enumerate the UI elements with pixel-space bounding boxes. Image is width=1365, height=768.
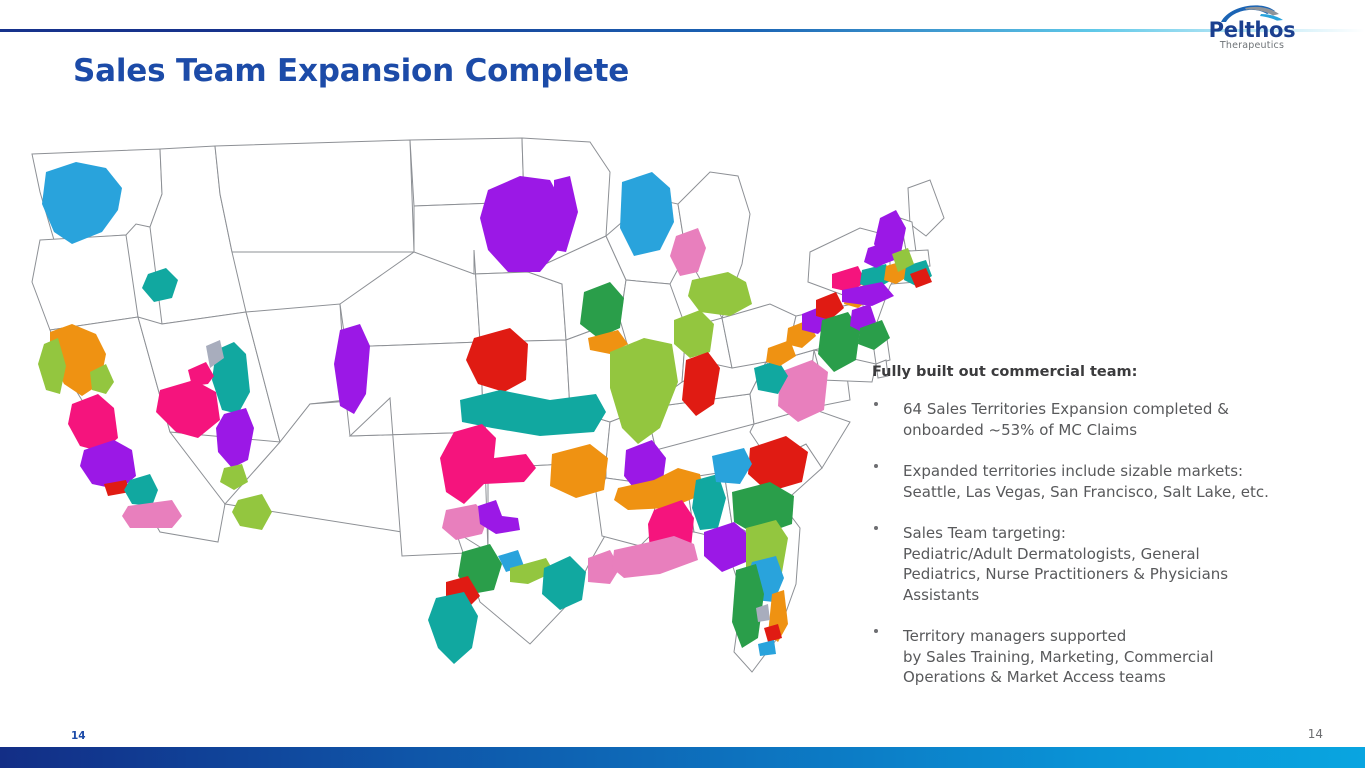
page-number-left: 14 [71, 730, 86, 742]
bullet-dot-icon [874, 629, 878, 633]
list-item: 64 Sales Territories Expansion completed… [869, 399, 1339, 440]
us-map-svg [10, 132, 970, 702]
list-item: Expanded territories include sizable mar… [869, 461, 1339, 502]
list-item: Sales Team targeting: Pediatric/Adult De… [869, 523, 1339, 605]
bullet-dot-icon [874, 464, 878, 468]
bullet-text: Sales Team targeting: Pediatric/Adult De… [903, 523, 1339, 605]
bullet-dot-icon [874, 402, 878, 406]
bullet-text: 64 Sales Territories Expansion completed… [903, 399, 1339, 440]
brand-logo: Pelthos Therapeutics [1197, 2, 1307, 48]
page-number-right: 14 [1308, 727, 1323, 741]
footer-gradient-bar [0, 747, 1365, 768]
list-item: Territory managers supported by Sales Tr… [869, 626, 1339, 688]
commercial-team-callout: Fully built out commercial team: 64 Sale… [869, 364, 1339, 709]
arc-swoosh-icon [1215, 2, 1291, 24]
callout-heading: Fully built out commercial team: [872, 364, 1339, 380]
bullet-text: Territory managers supported by Sales Tr… [903, 626, 1339, 688]
header-divider-rule [0, 29, 1365, 32]
page-title: Sales Team Expansion Complete [73, 53, 629, 89]
bullet-dot-icon [874, 526, 878, 530]
us-territory-map [10, 132, 970, 702]
bullet-text: Expanded territories include sizable mar… [903, 461, 1339, 502]
